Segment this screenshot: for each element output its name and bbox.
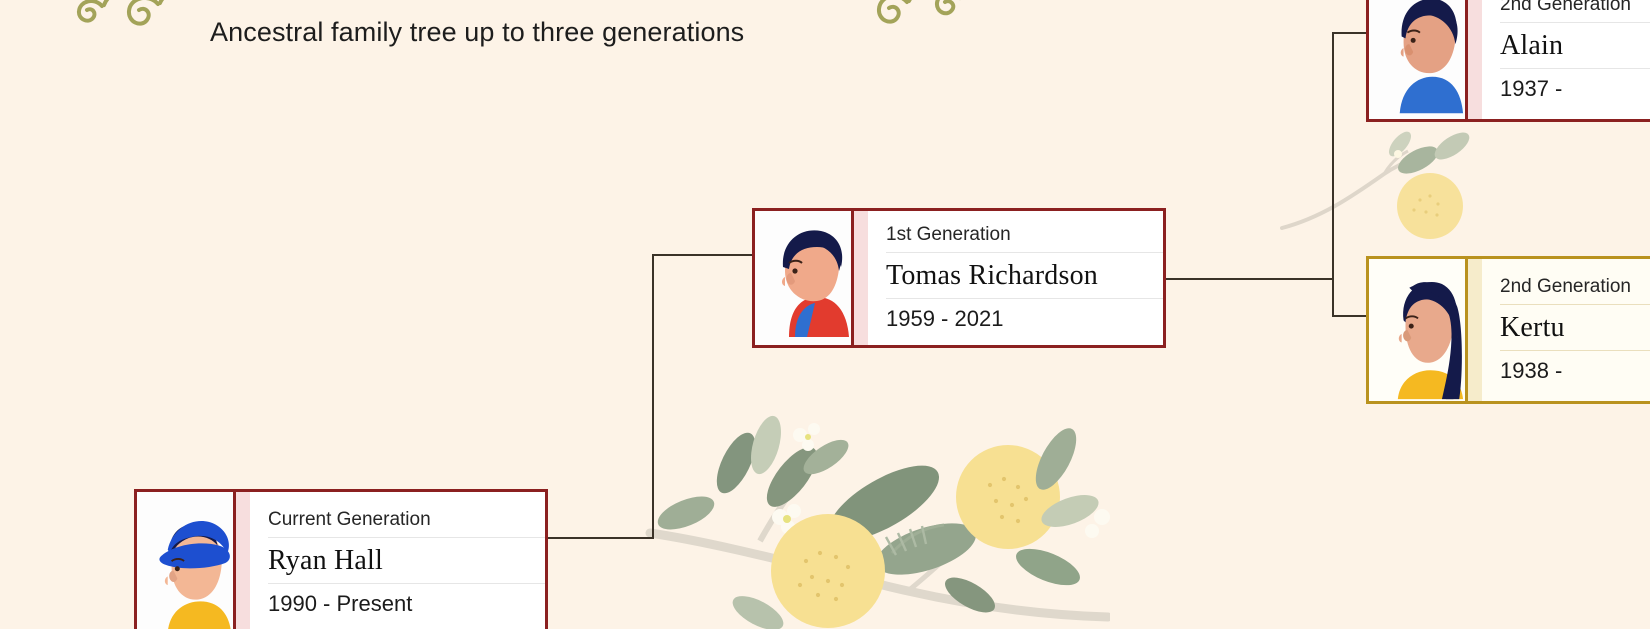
accent-strip-alain — [1468, 0, 1482, 119]
person-card-kertu[interactable]: 2nd Generation Kertu 1938 - — [1366, 256, 1650, 404]
connector-alain-horizontal — [1332, 32, 1368, 34]
avatar-ryan — [137, 492, 236, 629]
accent-strip-tomas — [854, 211, 868, 345]
accent-strip-ryan — [236, 492, 250, 629]
person-info-tomas: 1st Generation Tomas Richardson 1959 - 2… — [868, 211, 1163, 345]
generation-label-alain: 2nd Generation — [1500, 0, 1650, 23]
spiral-flourish-right-icon — [855, 0, 985, 46]
person-name-tomas: Tomas Richardson — [886, 253, 1163, 299]
person-name-alain: Alain — [1500, 23, 1650, 69]
person-dates-kertu: 1938 - — [1500, 351, 1650, 391]
portrait-person-short-hair-icon — [1369, 0, 1465, 119]
portrait-man-blue-hat-icon — [137, 492, 233, 629]
person-info-ryan: Current Generation Ryan Hall 1990 - Pres… — [250, 492, 545, 629]
generation-label-ryan: Current Generation — [268, 502, 545, 538]
avatar-alain — [1369, 0, 1468, 119]
person-card-tomas[interactable]: 1st Generation Tomas Richardson 1959 - 2… — [752, 208, 1166, 348]
person-name-ryan: Ryan Hall — [268, 538, 545, 584]
person-dates-alain: 1937 - — [1500, 69, 1650, 109]
person-card-alain[interactable]: 2nd Generation Alain 1937 - — [1366, 0, 1650, 122]
person-info-kertu: 2nd Generation Kertu 1938 - — [1482, 259, 1650, 401]
connector-left-spine — [652, 254, 654, 539]
person-dates-tomas: 1959 - 2021 — [886, 299, 1163, 339]
person-info-alain: 2nd Generation Alain 1937 - — [1482, 0, 1650, 119]
spiral-flourish-left-icon — [62, 0, 187, 50]
connector-right-spine — [1332, 32, 1334, 317]
connector-kertu-horizontal — [1332, 315, 1368, 317]
accent-strip-kertu — [1468, 259, 1482, 401]
connector-tomas-horizontal — [652, 254, 754, 256]
family-tree-canvas: Ancestral family tree up to three genera… — [0, 0, 1650, 629]
avatar-tomas — [755, 211, 854, 345]
connector-ryan-horizontal — [548, 537, 654, 539]
portrait-man-dark-hair-icon — [755, 211, 851, 345]
page-title: Ancestral family tree up to three genera… — [210, 17, 744, 48]
generation-label-kertu: 2nd Generation — [1500, 269, 1650, 305]
person-name-kertu: Kertu — [1500, 305, 1650, 351]
person-dates-ryan: 1990 - Present — [268, 584, 545, 624]
lemon-branch-large-icon — [640, 385, 1110, 629]
avatar-kertu — [1369, 259, 1468, 401]
person-card-ryan[interactable]: Current Generation Ryan Hall 1990 - Pres… — [134, 489, 548, 629]
generation-label-tomas: 1st Generation — [886, 217, 1163, 253]
portrait-woman-long-hair-icon — [1369, 259, 1465, 401]
lemon-branch-small-icon — [1280, 120, 1470, 240]
connector-tomas-right-horizontal — [1164, 278, 1334, 280]
